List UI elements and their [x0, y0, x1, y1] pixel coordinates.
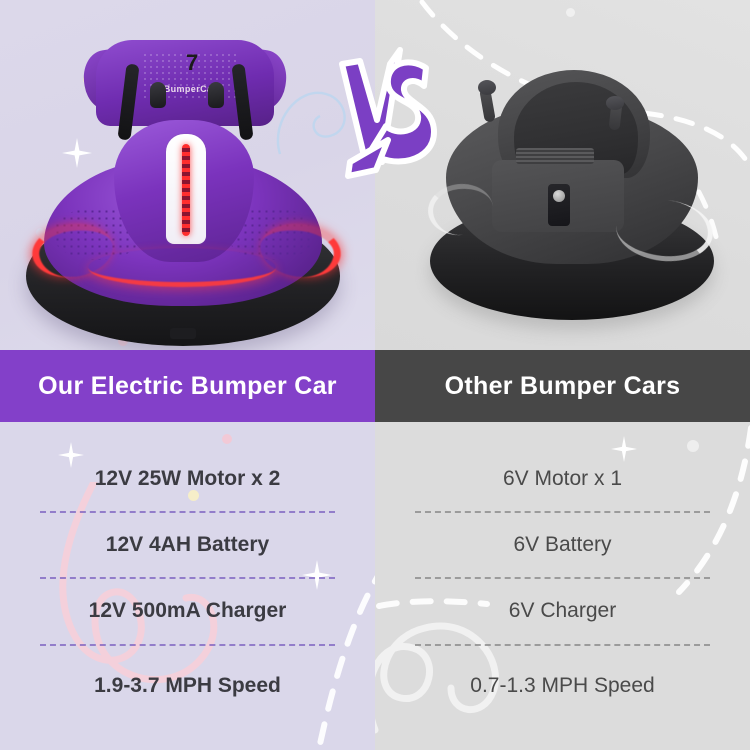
spec-ours-row-2: 12V 500mA Charger	[0, 599, 375, 623]
car-charging-port	[170, 328, 196, 339]
product-image-other-bumper-car	[420, 52, 720, 320]
decor-dot-pink-panel	[222, 434, 232, 444]
car-led-strip-center	[182, 144, 190, 236]
car-number-decal: 7	[170, 50, 214, 76]
spec-ours-row-3: 1.9-3.7 MPH Speed	[0, 674, 375, 698]
spec-others-row-0: 6V Motor x 1	[375, 467, 750, 491]
product-image-our-bumper-car: 7 BumperCar	[18, 28, 348, 346]
hero-section: 7 BumperCar	[0, 0, 750, 350]
spec-divider-others-0	[415, 511, 710, 513]
decor-dashed-arc-panel-right	[611, 422, 750, 612]
spec-panel-others: 6V Motor x 1 6V Battery 6V Charger 0.7-1…	[375, 422, 750, 750]
spec-divider-ours-0	[40, 511, 335, 513]
decor-dot-white-right	[566, 8, 575, 17]
spec-divider-ours-1	[40, 577, 335, 579]
other-car-grille	[516, 148, 594, 164]
other-car-power-button	[553, 190, 565, 202]
decor-sparkle-panel-right	[611, 436, 637, 462]
column-header-others: Other Bumper Cars	[375, 350, 750, 422]
spec-divider-others-1	[415, 577, 710, 579]
comparison-header-band: Our Electric Bumper Car Other Bumper Car…	[0, 350, 750, 422]
spec-others-row-3: 0.7-1.3 MPH Speed	[375, 674, 750, 698]
spec-ours-row-0: 12V 25W Motor x 2	[0, 467, 375, 491]
spec-others-row-2: 6V Charger	[375, 599, 750, 623]
other-car-joystick-right-knob	[606, 96, 624, 110]
decor-dot-cream-panel	[188, 490, 199, 501]
decor-sparkle-panel-left-2	[302, 560, 332, 590]
car-joystick-left	[150, 82, 166, 108]
column-header-ours: Our Electric Bumper Car	[0, 350, 375, 422]
spec-panel-ours: 12V 25W Motor x 2 12V 4AH Battery 12V 50…	[0, 422, 375, 750]
spec-ours-row-1: 12V 4AH Battery	[0, 533, 375, 557]
car-led-ring-front	[88, 248, 276, 287]
comparison-infographic: 7 BumperCar	[0, 0, 750, 750]
decor-white-squiggle-right	[375, 542, 595, 742]
spec-divider-others-2	[415, 644, 710, 646]
other-car-joystick-left-knob	[478, 80, 496, 95]
spec-divider-ours-2	[40, 644, 335, 646]
decor-dot-white-panel-right	[687, 440, 699, 452]
vs-badge: VS	[330, 44, 450, 184]
spec-others-row-1: 6V Battery	[375, 533, 750, 557]
decor-sparkle-panel-left	[58, 442, 84, 468]
decor-dashed-arc-panel-left	[300, 562, 375, 750]
car-joystick-right	[208, 82, 224, 108]
